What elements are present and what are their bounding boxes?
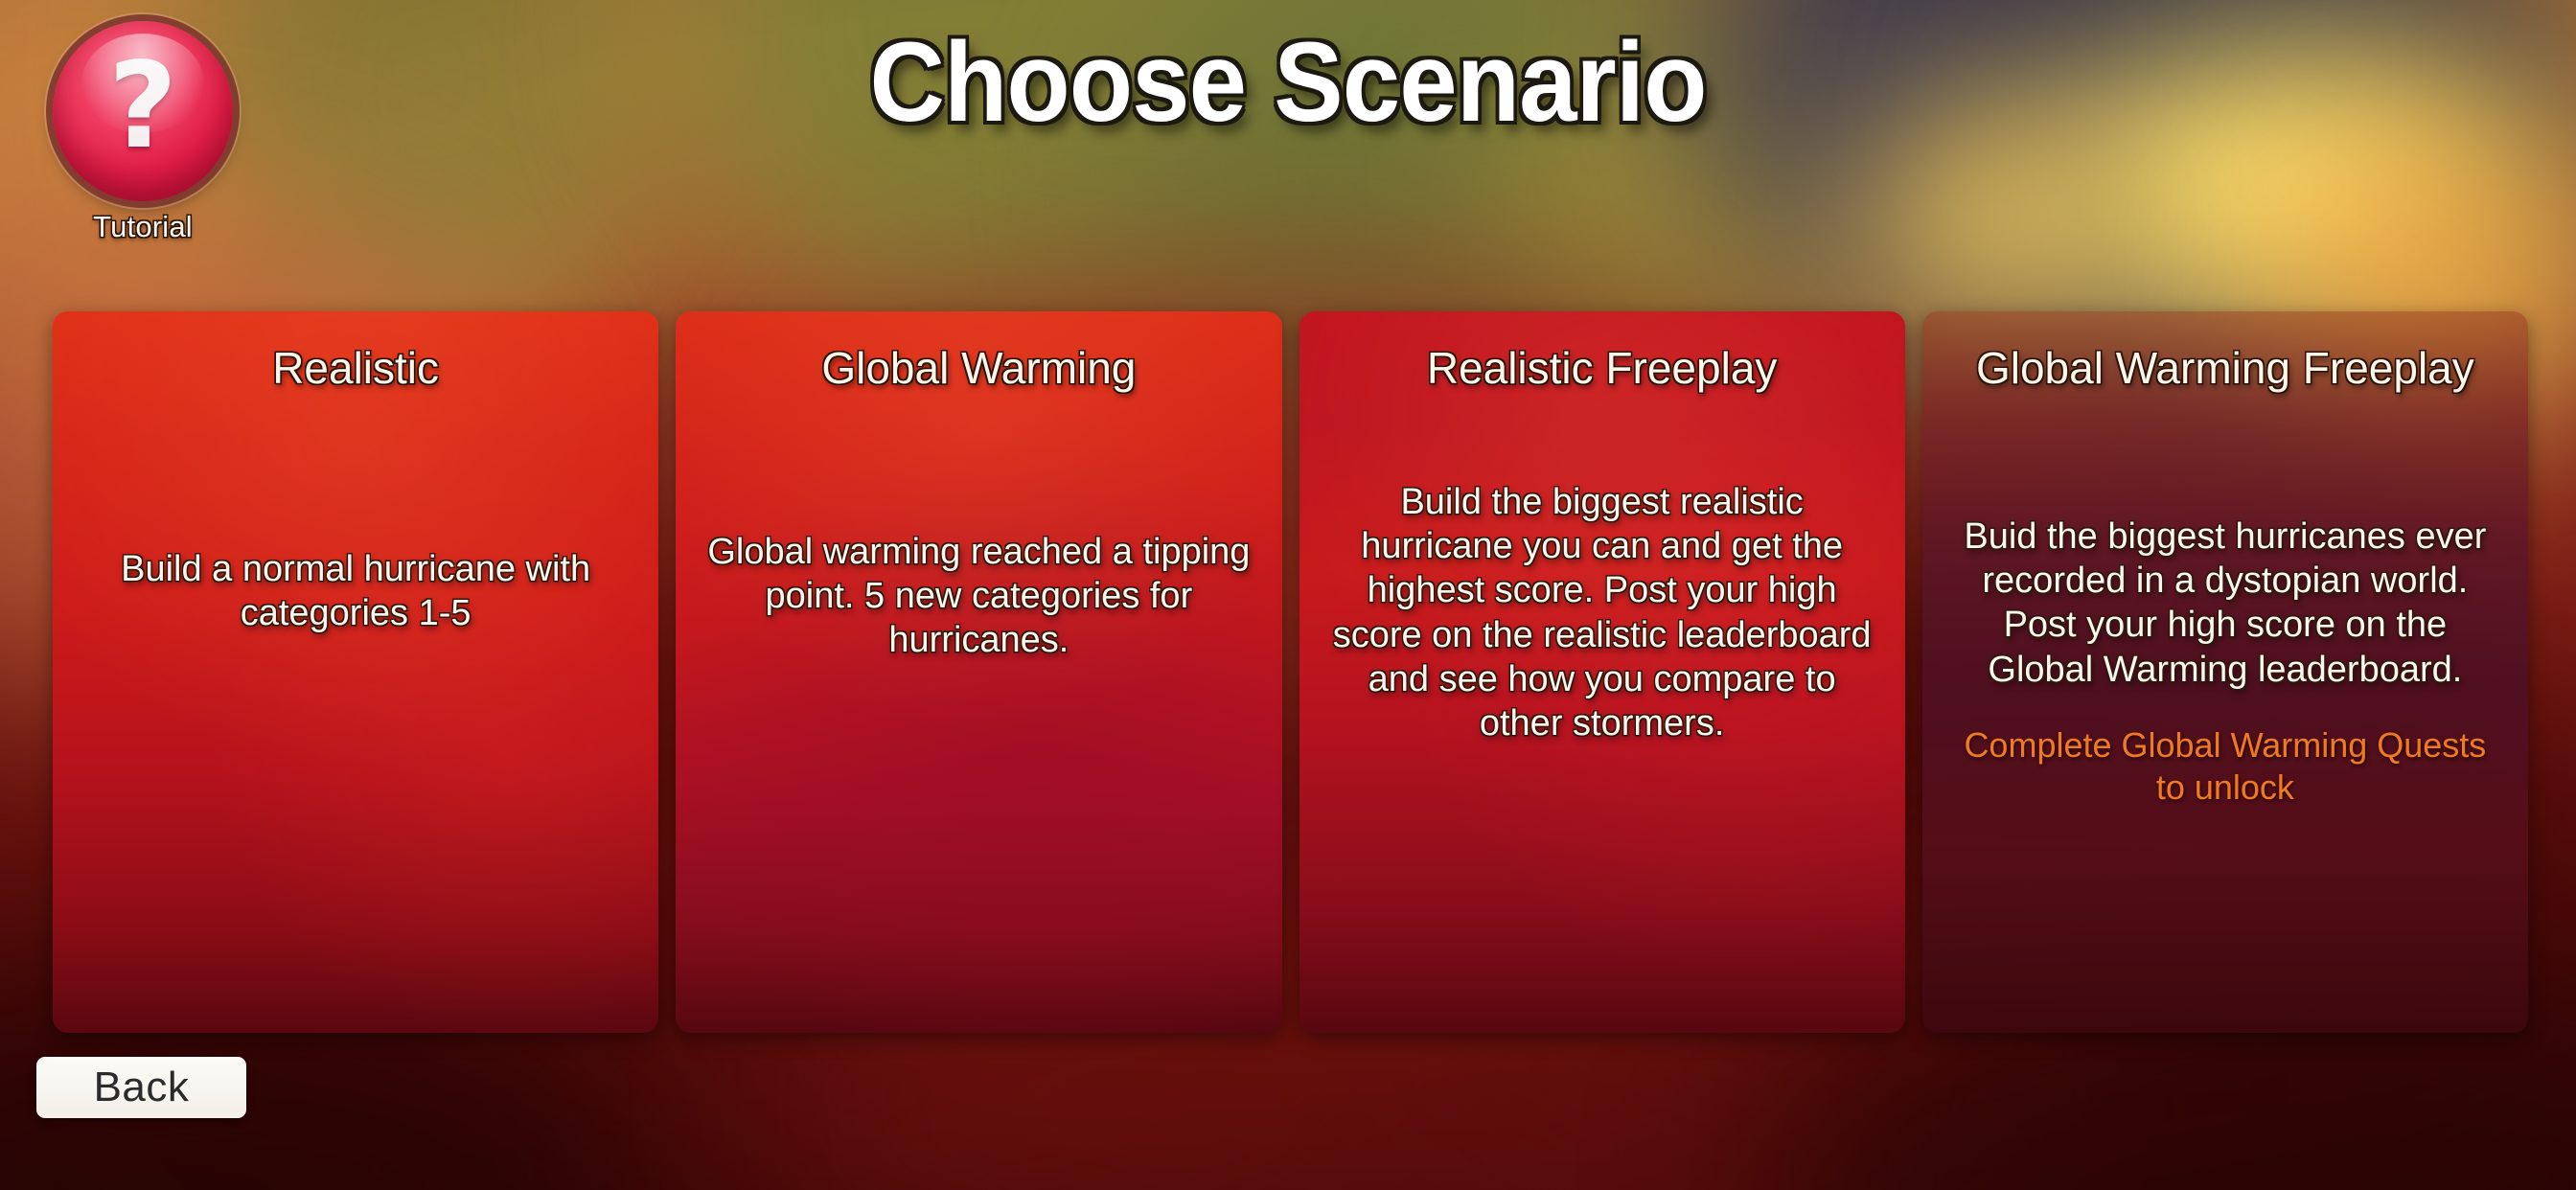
scenario-card-unlock-requirement: Complete Global Warming Quests to unlock [1947, 724, 2503, 809]
back-button-label: Back [94, 1064, 190, 1111]
scenario-card-description: Global warming reached a tipping point. … [701, 530, 1256, 663]
scenario-card-realistic[interactable]: Realistic Build a normal hurricane with … [53, 311, 658, 1033]
scenario-card-list: Realistic Build a normal hurricane with … [53, 311, 2528, 1033]
tutorial-button-label: Tutorial [33, 210, 253, 244]
scenario-card-title: Realistic Freeplay [1427, 344, 1778, 394]
scenario-card-global-warming[interactable]: Global Warming Global warming reached a … [676, 311, 1281, 1033]
scenario-card-title: Realistic [272, 344, 439, 394]
scenario-card-description: Buid the biggest hurricanes ever recorde… [1947, 515, 2503, 692]
scenario-card-title: Global Warming [821, 344, 1136, 394]
scenario-card-global-warming-freeplay[interactable]: Global Warming Freeplay Buid the biggest… [1922, 311, 2528, 1033]
scenario-card-title: Global Warming Freeplay [1976, 344, 2474, 394]
page-title: Choose Scenario [103, 17, 2473, 148]
scenario-card-realistic-freeplay[interactable]: Realistic Freeplay Build the biggest rea… [1299, 311, 1905, 1033]
scenario-card-description: Build the biggest realistic hurricane yo… [1324, 480, 1880, 746]
choose-scenario-screen: ? Tutorial Choose Scenario Realistic Bui… [0, 0, 2576, 1190]
scenario-card-description: Build a normal hurricane with categories… [78, 547, 633, 636]
back-button[interactable]: Back [36, 1057, 246, 1118]
